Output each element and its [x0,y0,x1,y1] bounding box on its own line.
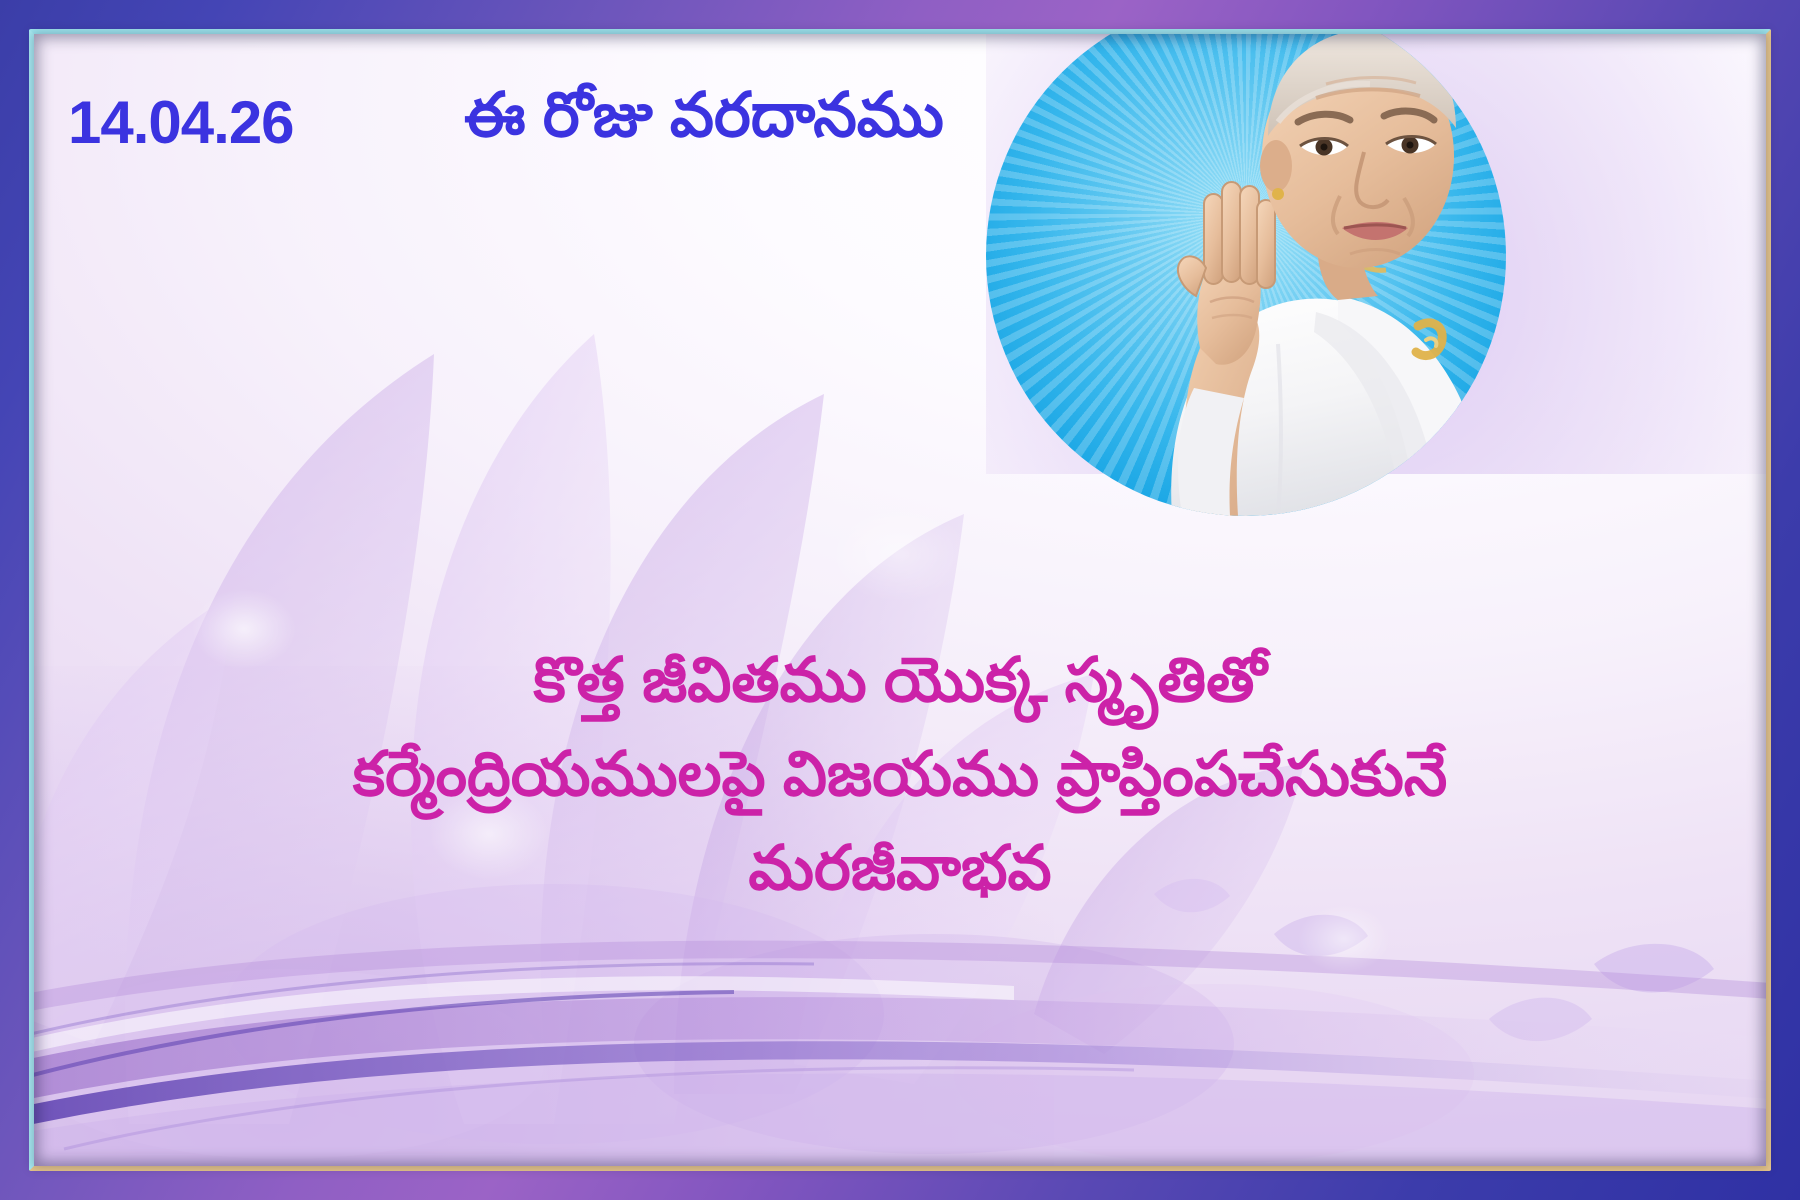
blessing-line-3: మరజీవాభవ [34,822,1766,916]
page-title: ఈ రోజు వరదానము [464,80,944,166]
portrait-figure [986,34,1506,516]
date-label: 14.04.26 [68,88,294,157]
lotus-petal-background [34,34,1766,1166]
blessing-text: కొత్త జీవితము యొక్క స్మృతితో కర్మేంద్రియ… [34,634,1766,917]
blessing-line-2: కర్మేంద్రియములపై విజయము ప్రాప్తింపచేసుకు… [34,728,1766,822]
portrait-photo [986,34,1506,516]
greeting-card: 14.04.26 ఈ రోజు వరదానము కొత్త జీవితము యొ… [0,0,1800,1200]
blessing-line-1: కొత్త జీవితము యొక్క స్మృతితో [34,634,1766,728]
card-artboard: 14.04.26 ఈ రోజు వరదానము కొత్త జీవితము యొ… [34,34,1766,1166]
